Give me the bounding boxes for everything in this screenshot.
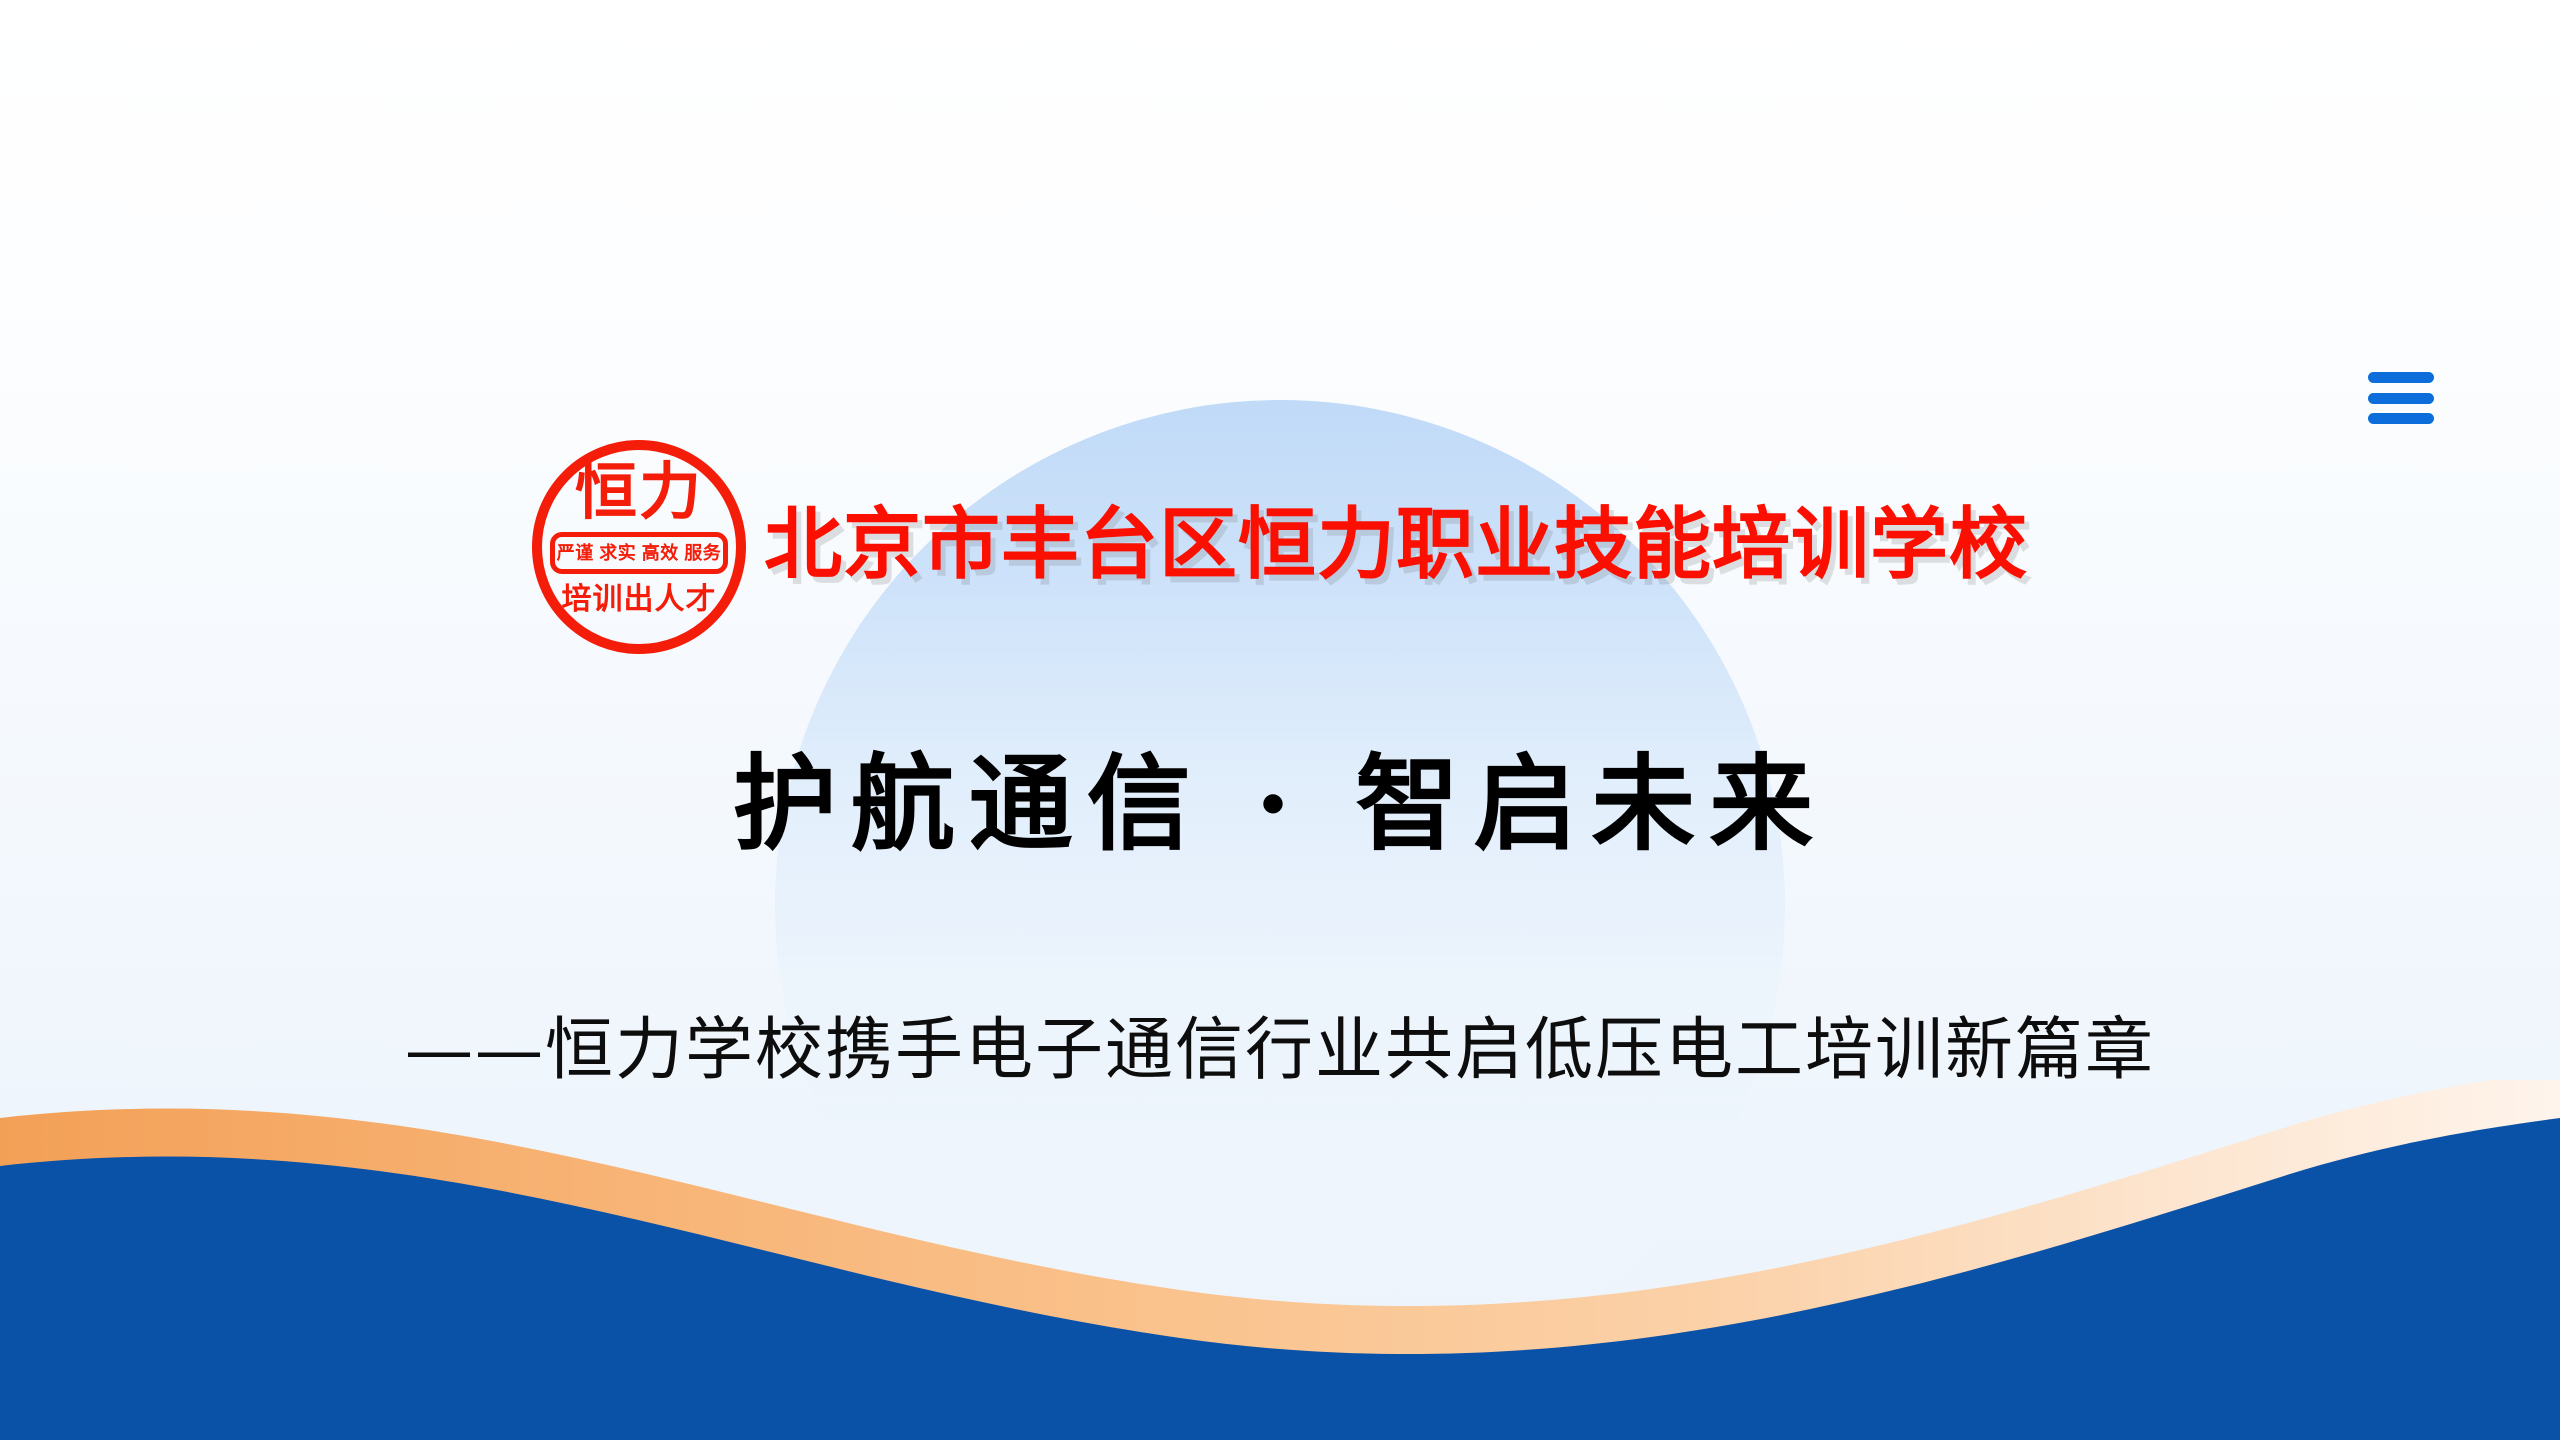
hamburger-menu-icon[interactable] bbox=[2368, 372, 2434, 424]
page-subtitle: ——恒力学校携手电子通信行业共启低压电工培训新篇章 bbox=[0, 1008, 2560, 1094]
logo-brand-text: 恒力 bbox=[532, 462, 746, 524]
hamburger-bar-top bbox=[2368, 372, 2434, 383]
hamburger-bar-middle bbox=[2368, 393, 2434, 404]
logo-motto-text: 严谨 求实 高效 服务 bbox=[557, 544, 722, 562]
header-brand-row: 恒力 严谨 求实 高效 服务 培训出人才 北京市丰台区恒力职业技能培训学校 bbox=[0, 434, 2560, 654]
wave-blue-body bbox=[0, 1118, 2560, 1440]
page-title: 护航通信 · 智启未来 bbox=[0, 740, 2560, 868]
logo-tagline-text: 培训出人才 bbox=[532, 584, 746, 616]
slide-canvas: 恒力 严谨 求实 高效 服务 培训出人才 北京市丰台区恒力职业技能培训学校 护航… bbox=[0, 0, 2560, 1440]
school-logo: 恒力 严谨 求实 高效 服务 培训出人才 bbox=[532, 440, 746, 654]
logo-motto-box: 严谨 求实 高效 服务 bbox=[550, 532, 728, 574]
hamburger-bar-bottom bbox=[2368, 413, 2434, 424]
wave-orange-band bbox=[0, 1080, 2560, 1440]
school-name-heading: 北京市丰台区恒力职业技能培训学校 bbox=[764, 498, 2028, 590]
bottom-wave-decoration bbox=[0, 1080, 2560, 1440]
